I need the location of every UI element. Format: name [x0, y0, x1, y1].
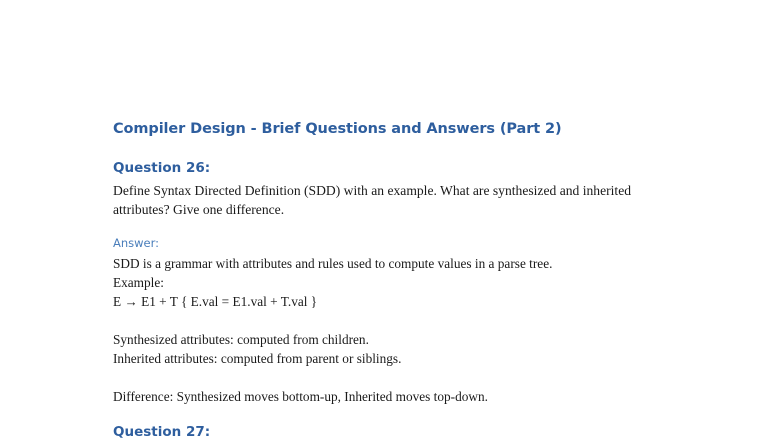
- answer-body-26: SDD is a grammar with attributes and rul…: [113, 254, 633, 406]
- answer-line-production: E → E1 + T { E.val = E1.val + T.val }: [113, 292, 633, 311]
- question-prompt-26: Define Syntax Directed Definition (SDD) …: [113, 181, 633, 219]
- answer-blank-line: [113, 311, 633, 330]
- question-heading-26: Question 26:: [113, 160, 633, 177]
- answer-blank-line: [113, 368, 633, 387]
- document-title: Compiler Design - Brief Questions and An…: [113, 120, 633, 138]
- answer-line: SDD is a grammar with attributes and rul…: [113, 254, 633, 273]
- question-block-27: Question 27:: [113, 424, 633, 441]
- document-content: Compiler Design - Brief Questions and An…: [113, 120, 633, 441]
- answer-label-26: Answer:: [113, 236, 633, 251]
- answer-line-difference: Difference: Synthesized moves bottom-up,…: [113, 387, 633, 406]
- question-heading-27: Question 27:: [113, 424, 633, 441]
- answer-line: Inherited attributes: computed from pare…: [113, 349, 633, 368]
- answer-line: Synthesized attributes: computed from ch…: [113, 330, 633, 349]
- question-block-26: Question 26: Define Syntax Directed Defi…: [113, 160, 633, 406]
- answer-line: Example:: [113, 273, 633, 292]
- document-page: Compiler Design - Brief Questions and An…: [0, 0, 784, 441]
